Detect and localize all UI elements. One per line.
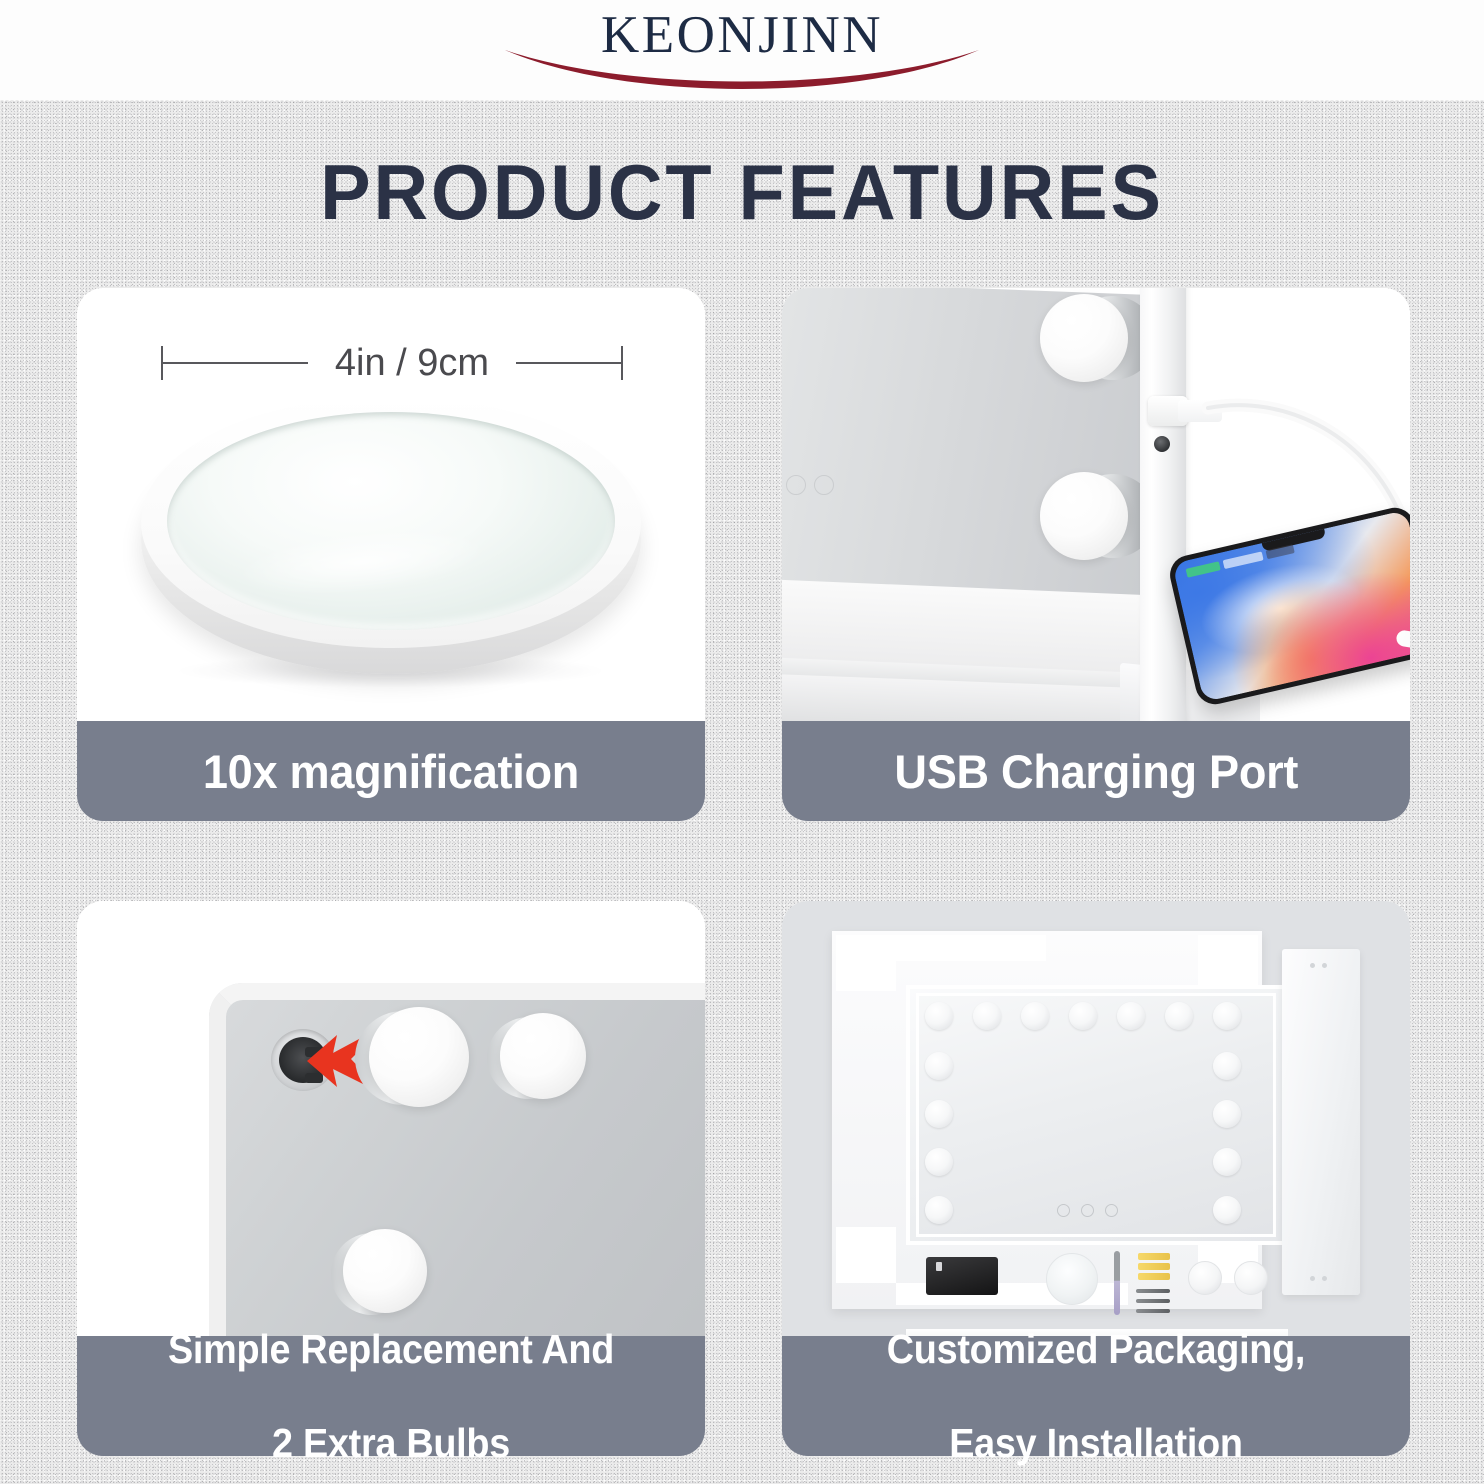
caption-line-1: Customized Packaging, bbox=[887, 1326, 1305, 1373]
magnifier-lens bbox=[141, 396, 641, 696]
lens-top-face bbox=[141, 396, 641, 648]
caption-packaging: Customized Packaging, Easy Installation bbox=[782, 1336, 1410, 1456]
lens-glass bbox=[167, 412, 615, 630]
screwdriver bbox=[1114, 1251, 1120, 1315]
packed-bulb bbox=[1021, 1002, 1049, 1030]
brand-swoosh-icon bbox=[487, 44, 997, 104]
screw bbox=[1136, 1309, 1170, 1313]
packed-bulb bbox=[1213, 1052, 1241, 1080]
extra-bulb-2 bbox=[1234, 1261, 1268, 1295]
status-block-white bbox=[1223, 551, 1264, 569]
packed-bulb bbox=[1069, 1002, 1097, 1030]
foam-corner-tr bbox=[1198, 935, 1258, 991]
feature-card-grid: 4in / 9cm 10x magnification bbox=[0, 288, 1484, 1484]
wall-anchor bbox=[1138, 1273, 1170, 1280]
screw bbox=[1136, 1299, 1170, 1303]
power-jack bbox=[1154, 436, 1170, 452]
foam-corner-bl bbox=[836, 1227, 896, 1283]
led-bulb-1 bbox=[369, 1007, 469, 1107]
mirror-shelf bbox=[782, 579, 1182, 674]
status-block-green bbox=[1186, 561, 1221, 577]
dimension-line-right bbox=[516, 362, 622, 364]
packed-bulb bbox=[1213, 1196, 1241, 1224]
caption-line-1: 10x magnification bbox=[203, 744, 579, 799]
caption-line-1: Simple Replacement And bbox=[168, 1326, 614, 1373]
foam-corner-tl bbox=[836, 935, 896, 991]
usb-scene bbox=[782, 288, 1410, 721]
packaging-photo bbox=[782, 901, 1410, 1336]
screw bbox=[1136, 1289, 1170, 1293]
packed-bulb bbox=[925, 1196, 953, 1224]
wall-anchor bbox=[1138, 1253, 1170, 1260]
brand-header: KEONJINN bbox=[0, 0, 1484, 100]
dimension-label: 4in / 9cm bbox=[308, 340, 516, 386]
packed-bulb bbox=[925, 1100, 953, 1128]
brand-logo: KEONJINN bbox=[507, 4, 977, 96]
dimension-tick-right bbox=[621, 346, 623, 380]
packed-bulb bbox=[925, 1052, 953, 1080]
mirror-side-post bbox=[1140, 288, 1186, 721]
caption-line-2: 2 Extra Bulbs bbox=[168, 1420, 614, 1467]
packed-bulb bbox=[1213, 1100, 1241, 1128]
touch-controls-icon bbox=[786, 475, 840, 497]
mirror-touch-control bbox=[1081, 1204, 1094, 1217]
dimension-indicator: 4in / 9cm bbox=[161, 340, 623, 386]
page-title: PRODUCT FEATURES bbox=[22, 144, 1461, 240]
foam-strip-top bbox=[896, 935, 1046, 961]
bulb-replacement-photo bbox=[77, 901, 705, 1336]
feature-card-bulb-replacement: Simple Replacement And 2 Extra Bulbs bbox=[77, 901, 705, 1456]
packed-mirror bbox=[916, 993, 1276, 1237]
shipping-box bbox=[832, 931, 1262, 1309]
status-block-dark bbox=[1265, 544, 1294, 559]
caption-line-1: USB Charging Port bbox=[894, 744, 1298, 799]
feature-card-magnification: 4in / 9cm 10x magnification bbox=[77, 288, 705, 821]
caption-line-2: Easy Installation bbox=[887, 1420, 1305, 1467]
dimension-line-left bbox=[162, 362, 308, 364]
lens-highlight bbox=[235, 519, 490, 605]
caption-bulb-replacement: Simple Replacement And 2 Extra Bulbs bbox=[77, 1336, 705, 1456]
mirror-touch-control bbox=[1057, 1204, 1070, 1217]
panel-dot bbox=[1322, 963, 1327, 968]
wall-anchor bbox=[1138, 1263, 1170, 1270]
accessory-tray bbox=[916, 1251, 1276, 1325]
mirror-touch-control bbox=[1105, 1204, 1118, 1217]
caption-usb-charging: USB Charging Port bbox=[782, 721, 1410, 821]
packed-bulb bbox=[925, 1002, 953, 1030]
panel-dot bbox=[1322, 1276, 1327, 1281]
packed-bulb bbox=[973, 1002, 1001, 1030]
panel-dot bbox=[1310, 1276, 1315, 1281]
side-panel-accessory bbox=[1282, 949, 1360, 1295]
usb-charging-photo bbox=[782, 288, 1410, 721]
led-bulb-3 bbox=[343, 1229, 427, 1313]
feature-card-usb-charging: USB Charging Port bbox=[782, 288, 1410, 821]
packed-bulb bbox=[1165, 1002, 1193, 1030]
packed-bulb bbox=[1213, 1148, 1241, 1176]
packed-bulb bbox=[1117, 1002, 1145, 1030]
packed-bulb bbox=[1213, 1002, 1241, 1030]
panel-dot bbox=[1310, 963, 1315, 968]
led-bulb-bottom bbox=[1040, 472, 1128, 560]
adapter-label bbox=[936, 1262, 942, 1271]
magnifying-mirror-accessory bbox=[1046, 1253, 1098, 1305]
touch-dot-left bbox=[786, 475, 806, 495]
magnifier-photo: 4in / 9cm bbox=[77, 288, 705, 721]
led-bulb-top bbox=[1040, 294, 1128, 382]
bulb-replacement-scene bbox=[77, 901, 705, 1336]
led-bulb-2 bbox=[500, 1013, 586, 1099]
extra-bulb-1 bbox=[1188, 1261, 1222, 1295]
caption-magnification: 10x magnification bbox=[77, 721, 705, 821]
power-adapter bbox=[926, 1257, 998, 1295]
touch-dot-right bbox=[814, 475, 834, 495]
packed-bulb bbox=[925, 1148, 953, 1176]
feature-card-packaging: Customized Packaging, Easy Installation bbox=[782, 901, 1410, 1456]
packaging-scene bbox=[782, 901, 1410, 1336]
